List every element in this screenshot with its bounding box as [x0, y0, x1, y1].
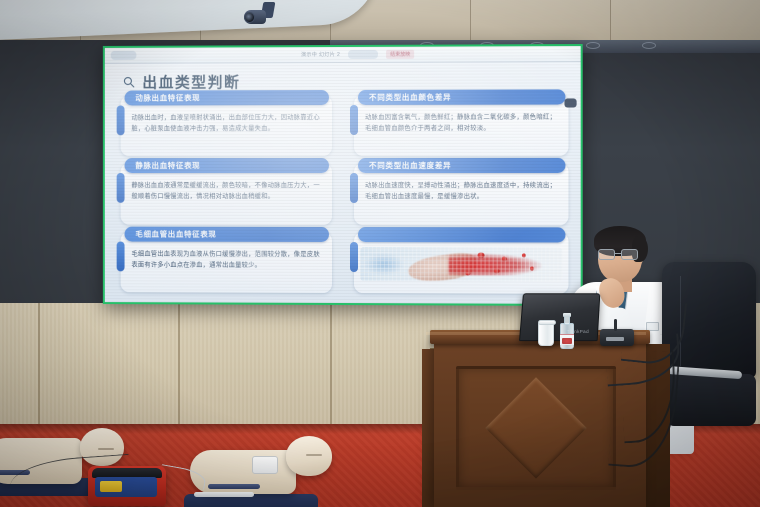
card-header: 毛细血管出血特征表现 [125, 226, 329, 241]
card-header-label: 不同类型出血速度差异 [369, 160, 451, 171]
toolbar-pill[interactable] [111, 51, 137, 60]
card-capillary-bleeding[interactable]: 毛细血管出血特征表现 毛细血管出血表现为血液从伤口缓慢渗出，范围较分散，像是皮肤… [121, 231, 332, 293]
chair-seat [666, 374, 756, 426]
toolbar-status-text: 演示中 幻灯片 2 [301, 51, 340, 58]
card-accent-bar [117, 241, 125, 271]
card-header: 不同类型出血速度差异 [358, 158, 565, 173]
lecture-hall-scene: 演示中 幻灯片 2 结束放映 出血类型判断 动脉出血特征表现 [0, 0, 760, 507]
card-bleeding-photo[interactable] [354, 232, 569, 294]
card-header: 不同类型出血颜色差异 [358, 89, 565, 105]
card-header-label: 动脉出血特征表现 [135, 92, 200, 103]
end-show-button[interactable]: 结束放映 [386, 50, 414, 59]
wood-wall-seam [330, 303, 332, 431]
toolbar-pill[interactable] [348, 50, 378, 59]
aed-electrode-pad [252, 456, 278, 474]
presentation-toolbar[interactable]: 演示中 幻灯片 2 结束放映 [105, 46, 581, 64]
cpr-manikin-right[interactable] [190, 440, 326, 506]
card-header [358, 227, 565, 242]
card-accent-bar [117, 105, 125, 135]
wood-wall-seam [178, 303, 180, 431]
card-bleeding-color-difference[interactable]: 不同类型出血颜色差异 动脉血因富含氧气，颜色鲜红；静脉血含二氧化碳多，颜色暗红；… [354, 94, 569, 156]
manikin-strap [194, 492, 254, 497]
search-icon [123, 76, 136, 89]
card-header-label: 不同类型出血颜色差异 [369, 92, 451, 103]
card-header: 静脉出血特征表现 [125, 158, 329, 173]
manikin-head [286, 436, 332, 476]
card-body: 动脉血因富含氧气，颜色鲜红；静脉血含二氧化碳多，颜色暗红；毛细血管血颜色介于两者… [365, 112, 559, 134]
slide-surface: 演示中 幻灯片 2 结束放映 出血类型判断 动脉出血特征表现 [105, 46, 581, 304]
wood-wall-seam [38, 303, 40, 431]
cup-lid [538, 320, 556, 325]
card-body: 动脉出血时，血液呈喷射状涌出，出血部位压力大，因动脉靠近心脏，心脏泵血使血液冲击… [131, 112, 323, 134]
card-bleeding-speed-difference[interactable]: 不同类型出血速度差异 动脉出血速度快，呈搏动性涌出；静脉出血速度适中，持续流出；… [354, 163, 569, 225]
slide-next-nub[interactable] [564, 98, 576, 107]
card-accent-bar [350, 105, 358, 135]
ceiling-camera-icon [244, 2, 274, 28]
card-header-label: 静脉出血特征表现 [135, 160, 200, 171]
card-grid: 动脉出血特征表现 动脉出血时，血液呈喷射状涌出，出血部位压力大，因动脉靠近心脏，… [121, 94, 569, 293]
card-accent-bar [350, 242, 358, 272]
card-venous-bleeding[interactable]: 静脉出血特征表现 静脉出血血液通常是缓缓流出，颜色较暗，不像动脉血压力大，一般顺… [121, 163, 332, 224]
manikin-face-line [306, 454, 322, 456]
manikin-face-line [98, 448, 114, 450]
card-header-label: 毛细血管出血特征表现 [135, 228, 216, 239]
card-accent-bar [117, 173, 125, 203]
manikin-strap [208, 484, 260, 489]
podium-diamond-motif [485, 377, 587, 479]
card-body: 动脉出血速度快，呈搏动性涌出；静脉出血速度适中，持续流出；毛细血管出血速度最慢，… [365, 180, 559, 202]
card-arterial-bleeding[interactable]: 动脉出血特征表现 动脉出血时，血液呈喷射状涌出，出血部位压力大，因动脉靠近心脏，… [121, 95, 332, 156]
card-body: 毛细血管出血表现为血液从伤口缓慢渗出，范围较分散，像是皮肤表面有许多小血点在渗血… [131, 248, 323, 270]
projection-screen[interactable]: 演示中 幻灯片 2 结束放映 出血类型判断 动脉出血特征表现 [103, 44, 583, 306]
card-header: 动脉出血特征表现 [125, 90, 329, 105]
bleeding-hand-photo [360, 247, 562, 282]
drinking-cup[interactable] [538, 322, 554, 346]
podium-panel [456, 366, 616, 490]
toolbar-spacer [144, 50, 293, 60]
eyeglasses-icon [598, 249, 642, 261]
card-accent-bar [350, 173, 358, 203]
water-bottle[interactable] [560, 313, 574, 349]
card-body: 静脉出血血液通常是缓缓流出，颜色较暗，不像动脉血压力大，一般顺着伤口慢慢流出，情… [131, 180, 323, 202]
